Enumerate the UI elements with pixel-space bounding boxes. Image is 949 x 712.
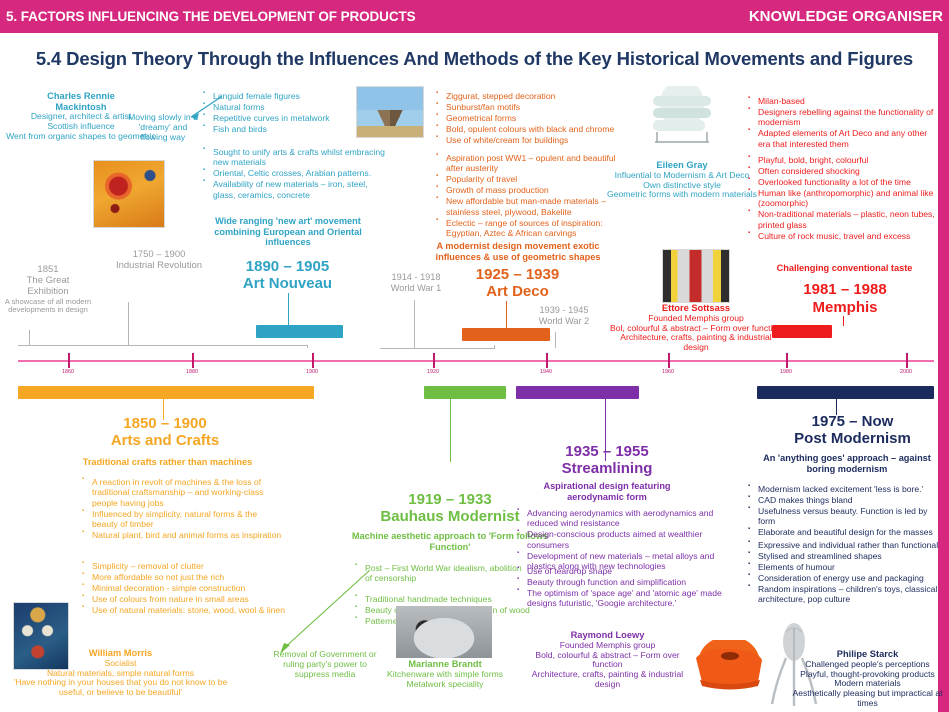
era-bar-bauhaus[interactable] — [424, 386, 506, 399]
era-bar-arts-and-crafts[interactable] — [18, 386, 314, 399]
figure-philipe-starck: Philipe Starck Challenged people's perce… — [790, 649, 945, 709]
list-item: Advancing aerodynamics with aerodynamics… — [517, 508, 717, 529]
event-ww2-years: 1939 - 1945 — [518, 305, 610, 316]
axis-tick-1940 — [546, 353, 548, 368]
figure-raymond-loewy: Raymond Loewy Founded Memphis group Bold… — [520, 630, 695, 690]
event-bracket-great-exhibition — [18, 345, 308, 346]
post-modernism-bullets-primary: Modernism lacked excitement 'less is bor… — [748, 484, 943, 538]
figure-sottsass: Ettore Sottsass Founded Memphis group Bo… — [607, 303, 785, 353]
list-item: Use of white/cream for buildings — [436, 135, 616, 145]
figure-philipe-starck-line-3: Aesthetically pleasing but impractical a… — [790, 689, 945, 709]
memphis-tagline: Challenging conventional taste — [752, 263, 937, 274]
arts-and-crafts-bullets-primary: A reaction in revolt of machines & the l… — [82, 477, 282, 541]
sottsass-furniture-image — [662, 249, 730, 303]
list-item: Eclectic – range of sources of inspirati… — [436, 218, 621, 239]
memphis-bullets-primary: Milan-based Designers rebelling against … — [748, 96, 938, 150]
memphis-bullets-secondary: Playful, bold, bright, colourful Often c… — [748, 155, 943, 242]
event-industrial-revolution: 1750 – 1900 Industrial Revolution — [85, 250, 233, 272]
list-item: Consideration of energy use and packagin… — [748, 573, 945, 583]
art-deco-years: 1925 – 1939 — [440, 266, 595, 283]
list-item: Overlooked functionality a lot of the ti… — [748, 177, 943, 187]
era-connector-bauhaus — [450, 399, 451, 462]
axis-tick-label-1960: 1960 — [662, 369, 674, 375]
list-item: Often considered shocking — [748, 166, 943, 176]
art-deco-bullets-secondary: Aspiration post WW1 – opulent and beauti… — [436, 153, 621, 239]
figure-marianne-brandt-line-1: Metalwork speciality — [385, 680, 505, 690]
era-bar-memphis[interactable] — [772, 325, 832, 338]
list-item: Simplicity – removal of clutter — [82, 561, 297, 571]
art-nouveau-tagline: Wide ranging 'new art' movement combinin… — [193, 216, 383, 248]
memphis-name: Memphis — [760, 299, 930, 316]
list-item: Usefulness versus beauty. Function is le… — [748, 506, 943, 527]
era-connector-art-deco — [506, 301, 507, 329]
streamlining-years: 1935 – 1955 — [527, 443, 687, 460]
raymond-loewy-object-image — [690, 640, 768, 695]
streamlining-bullets-secondary: Use of teardrop shape Beauty through fun… — [517, 566, 722, 609]
list-item: Natural plant, bird and animal forms as … — [82, 530, 282, 540]
figure-marianne-brandt: Marianne Brandt Kitchenware with simple … — [385, 659, 505, 689]
list-item: Post – First World War idealism, aboliti… — [355, 563, 525, 584]
list-item: Beauty through function and simplificati… — [517, 577, 722, 587]
event-ww1-years: 1914 - 1918 — [370, 272, 462, 283]
list-item: Adapted elements of Art Deco and any oth… — [748, 128, 938, 149]
axis-tick-1960 — [668, 353, 670, 368]
axis-tick-1980 — [786, 353, 788, 368]
axis-tick-label-1940: 1940 — [540, 369, 552, 375]
axis-tick-label-1900: 1900 — [306, 369, 318, 375]
list-item: Oriental, Celtic crosses, Arabian patter… — [203, 168, 388, 178]
post-modernism-years: 1975 – Now — [770, 413, 935, 430]
post-modernism-tagline: An 'anything goes' approach – against bo… — [757, 453, 937, 474]
list-item: More affordable so not just the rich — [82, 572, 297, 582]
art-deco-bullets-primary: Ziggurat, stepped decoration Sunburst/fa… — [436, 91, 616, 146]
list-item: Use of teardrop shape — [517, 566, 722, 576]
era-bar-streamlining[interactable] — [516, 386, 639, 399]
figure-william-morris-line-2: 'Have nothing in your houses that you do… — [8, 678, 233, 698]
axis-tick-1860 — [68, 353, 70, 368]
list-item: The optimism of 'space age' and 'atomic … — [517, 588, 722, 609]
era-connector-memphis — [843, 316, 844, 326]
era-bar-art-deco[interactable] — [462, 328, 550, 341]
figure-william-morris: William Morris Socialist Natural materia… — [8, 648, 233, 698]
event-ww1-label: World War 1 — [370, 283, 462, 294]
list-item: Minimal decoration - simple construction — [82, 583, 297, 593]
era-bar-post-modernism[interactable] — [757, 386, 934, 399]
axis-tick-label-1860: 1860 — [62, 369, 74, 375]
event-bracket-ww1-tick — [494, 345, 495, 349]
arrow-to-removal-of-government-icon — [270, 568, 375, 660]
art-nouveau-bullets-secondary: Sought to unify arts & crafts whilst emb… — [203, 147, 388, 201]
annotation-removal-of-government: Removal of Government or ruling party's … — [265, 650, 385, 680]
axis-tick-label-1920: 1920 — [427, 369, 439, 375]
list-item: Fish and birds — [203, 124, 353, 134]
axis-tick-1920 — [433, 353, 435, 368]
era-bar-art-nouveau[interactable] — [256, 325, 343, 338]
figure-eileen-gray: Eileen Gray Influential to Modernism & A… — [607, 160, 757, 200]
memphis-years: 1981 – 1988 — [760, 281, 930, 298]
event-great-exhibition-note: A showcase of all modern developments in… — [2, 298, 94, 315]
art-deco-tagline: A modernist design movement exotic influ… — [418, 241, 618, 262]
event-industrial-revolution-label: Industrial Revolution — [85, 261, 233, 272]
event-ww1: 1914 - 1918 World War 1 — [370, 272, 462, 293]
bauhaus-name: Bauhaus Modernist — [370, 508, 530, 525]
list-item: Aspiration post WW1 – opulent and beauti… — [436, 153, 621, 174]
figure-raymond-loewy-line-1: Bold, colourful & abstract – Form over f… — [520, 651, 695, 671]
list-item: Availability of new materials – iron, st… — [203, 179, 388, 200]
event-dropline-1851 — [29, 330, 30, 346]
figure-sottsass-line-2: Architecture, crafts, painting & industr… — [607, 333, 785, 353]
list-item: Playful, bold, bright, colourful — [748, 155, 943, 165]
figure-mackintosh-name-line1: Charles Rennie — [6, 91, 156, 102]
list-item: Random inspirations – children's toys, c… — [748, 584, 945, 605]
header-title: 5. FACTORS INFLUENCING THE DEVELOPMENT O… — [0, 9, 416, 24]
list-item: Sunburst/fan motifs — [436, 102, 616, 112]
bauhaus-bullets-primary: Post – First World War idealism, aboliti… — [355, 563, 525, 584]
list-item: Design-conscious products aimed at wealt… — [517, 529, 717, 550]
event-bracket-ww1 — [380, 348, 495, 349]
list-item: Elaborate and beautiful design for the m… — [748, 527, 943, 537]
page-title: 5.4 Design Theory Through the Influences… — [0, 48, 949, 70]
list-item: Geometrical forms — [436, 113, 616, 123]
timeline-axis — [18, 360, 934, 362]
axis-tick-2000 — [906, 353, 908, 368]
event-dropline-ww2 — [555, 332, 556, 348]
list-item: Sought to unify arts & crafts whilst emb… — [203, 147, 388, 168]
axis-tick-label-2000: 2000 — [900, 369, 912, 375]
list-item: Languid female figures — [203, 91, 353, 101]
list-item: Milan-based — [748, 96, 938, 106]
list-item: Popularity of travel — [436, 174, 621, 184]
event-ww2-label: World War 2 — [518, 316, 610, 327]
list-item: Use of colours from nature in small area… — [82, 594, 297, 604]
era-connector-art-nouveau — [288, 293, 289, 326]
event-ww2: 1939 - 1945 World War 2 — [518, 305, 610, 326]
event-great-exhibition: 1851 The Great Exhibition A showcase of … — [2, 265, 94, 315]
list-item: Repetitive curves in metalwork — [203, 113, 353, 123]
streamlining-bullets-primary: Advancing aerodynamics with aerodynamics… — [517, 508, 717, 572]
axis-tick-1880 — [192, 353, 194, 368]
arts-and-crafts-years: 1850 – 1900 — [85, 415, 245, 432]
list-item: Stylised and streamlined shapes — [748, 551, 945, 561]
axis-tick-label-1880: 1880 — [186, 369, 198, 375]
arts-and-crafts-name: Arts and Crafts — [85, 432, 245, 449]
list-item: Influenced by simplicity, natural forms … — [82, 509, 282, 530]
mackintosh-rose-artwork-image — [93, 160, 165, 228]
page-header-bar: 5. FACTORS INFLUENCING THE DEVELOPMENT O… — [0, 0, 949, 33]
streamlining-name: Streamlining — [527, 460, 687, 477]
list-item: New affordable but man-made materials – … — [436, 196, 621, 217]
list-item: Bold, opulent colours with black and chr… — [436, 124, 616, 134]
post-modernism-bullets-secondary: Expressive and individual rather than fu… — [748, 540, 945, 605]
list-item: CAD makes things bland — [748, 495, 943, 505]
list-item: Use of natural materials: stone, wood, w… — [82, 605, 297, 615]
marianne-brandt-teapot-image — [396, 606, 492, 658]
axis-tick-1900 — [312, 353, 314, 368]
header-knowledge-organiser-label: KNOWLEDGE ORGANISER — [749, 8, 949, 25]
list-item: Growth of mass production — [436, 185, 621, 195]
list-item: Culture of rock music, travel and excess — [748, 231, 943, 241]
arts-and-crafts-tagline: Traditional crafts rather than machines — [60, 457, 275, 468]
right-edge-accent-rail — [938, 33, 949, 712]
list-item: Modernism lacked excitement 'less is bor… — [748, 484, 943, 494]
event-bracket-end-left — [307, 345, 308, 348]
arts-and-crafts-bullets-secondary: Simplicity – removal of clutter More aff… — [82, 561, 297, 616]
figure-eileen-gray-line-2: Geometric forms with modern materials — [607, 190, 757, 200]
event-dropline-industrial-revolution — [128, 302, 129, 346]
ziggurat-pyramid-image — [356, 86, 424, 138]
art-nouveau-name: Art Nouveau — [205, 275, 370, 292]
list-item: Elements of humour — [748, 562, 945, 572]
list-item: Designers rebelling against the function… — [748, 107, 938, 128]
art-deco-name: Art Deco — [440, 283, 595, 300]
list-item: Non-traditional materials – plastic, neo… — [748, 209, 943, 230]
art-nouveau-bullets-primary: Languid female figures Natural forms Rep… — [203, 91, 353, 135]
streamlining-tagline: Aspirational design featuring aerodynami… — [518, 481, 696, 502]
list-item: Natural forms — [203, 102, 353, 112]
list-item: Human like (anthropomorphic) and animal … — [748, 188, 943, 209]
event-dropline-ww1 — [414, 300, 415, 348]
figure-raymond-loewy-line-2: Architecture, crafts, painting & industr… — [520, 670, 695, 690]
list-item: A reaction in revolt of machines & the l… — [82, 477, 282, 508]
list-item: Ziggurat, stepped decoration — [436, 91, 616, 101]
axis-tick-label-1980: 1980 — [780, 369, 792, 375]
list-item: Traditional handmade techniques — [355, 594, 530, 604]
knowledge-organiser-page: 5. FACTORS INFLUENCING THE DEVELOPMENT O… — [0, 0, 949, 712]
bauhaus-years: 1919 – 1933 — [370, 491, 530, 508]
eileen-gray-chair-image — [643, 86, 721, 148]
post-modernism-name: Post Modernism — [770, 430, 935, 447]
list-item: Expressive and individual rather than fu… — [748, 540, 945, 550]
